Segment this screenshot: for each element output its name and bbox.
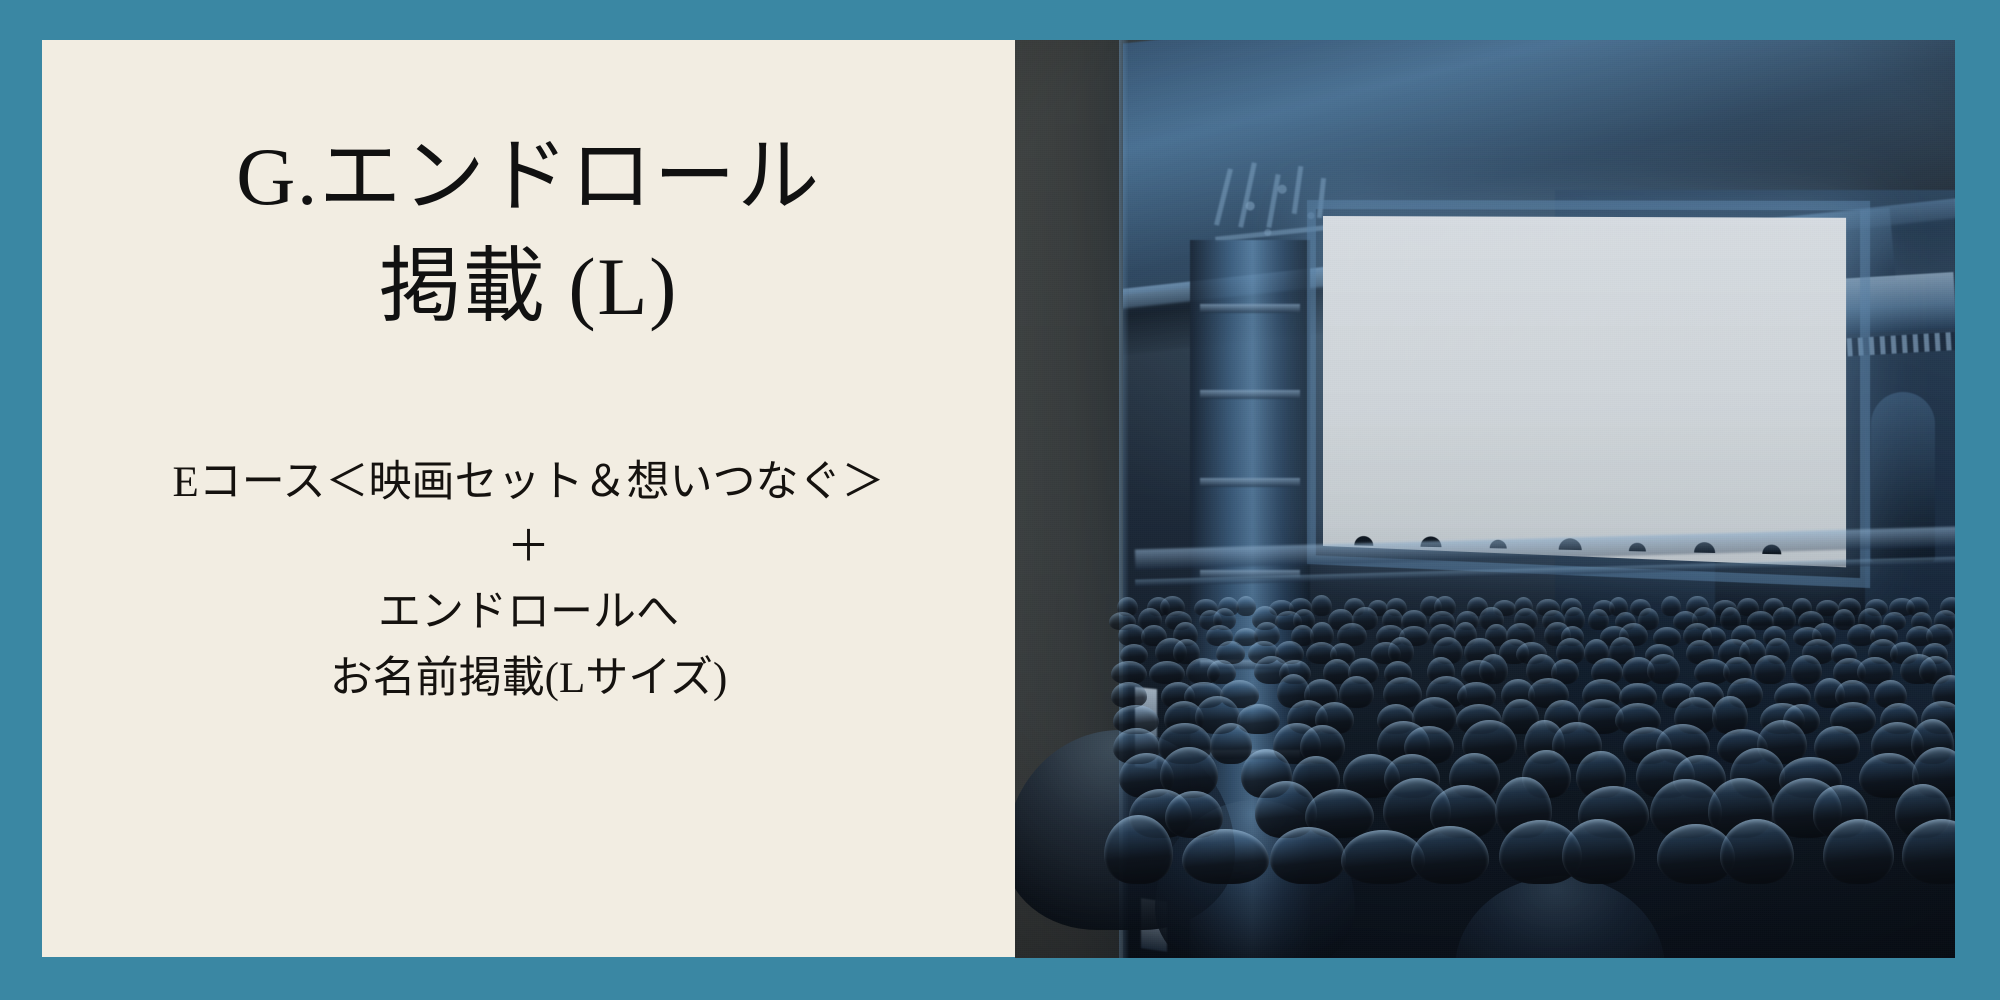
audience-head: [1479, 654, 1509, 684]
audience-head: [1111, 682, 1147, 708]
card-title-line-2: 掲載 (L): [42, 232, 1015, 342]
subtitle-line-plus: ＋: [42, 515, 1015, 580]
text-panel: G.エンドロール 掲載 (L) Eコース＜映画セット＆想いつなぐ＞ ＋ エンドロ…: [42, 40, 1015, 957]
audience-head: [1388, 637, 1414, 664]
audience-head: [1111, 661, 1147, 684]
subtitle-line-endroll: エンドロールへ: [42, 580, 1015, 645]
reward-card-graphic: G.エンドロール 掲載 (L) Eコース＜映画セット＆想いつなぐ＞ ＋ エンドロ…: [0, 0, 2000, 1000]
audience-head: [1383, 677, 1422, 708]
audience-head: [1149, 661, 1185, 684]
card-title: G.エンドロール 掲載 (L): [42, 122, 1015, 342]
audience-head: [1720, 819, 1794, 884]
audience-head: [1311, 595, 1332, 616]
audience-head: [1210, 723, 1252, 764]
audience-head: [1791, 655, 1822, 684]
subtitle-line-course: Eコース＜映画セット＆想いつなぐ＞: [42, 450, 1015, 515]
audience-head: [1754, 655, 1786, 684]
movie-theater-photo: [1015, 40, 1955, 958]
audience-head: [1339, 676, 1374, 708]
card-title-line-1: G.エンドロール: [42, 122, 1015, 232]
card-subtitle: Eコース＜映画セット＆想いつなぐ＞ ＋ エンドロールへ お名前掲載(Lサイズ): [42, 450, 1015, 711]
subtitle-line-name-size: お名前掲載(Lサイズ): [42, 646, 1015, 711]
audience-head: [1647, 654, 1680, 684]
audience-head: [1823, 819, 1894, 884]
audience-head: [1270, 827, 1346, 884]
